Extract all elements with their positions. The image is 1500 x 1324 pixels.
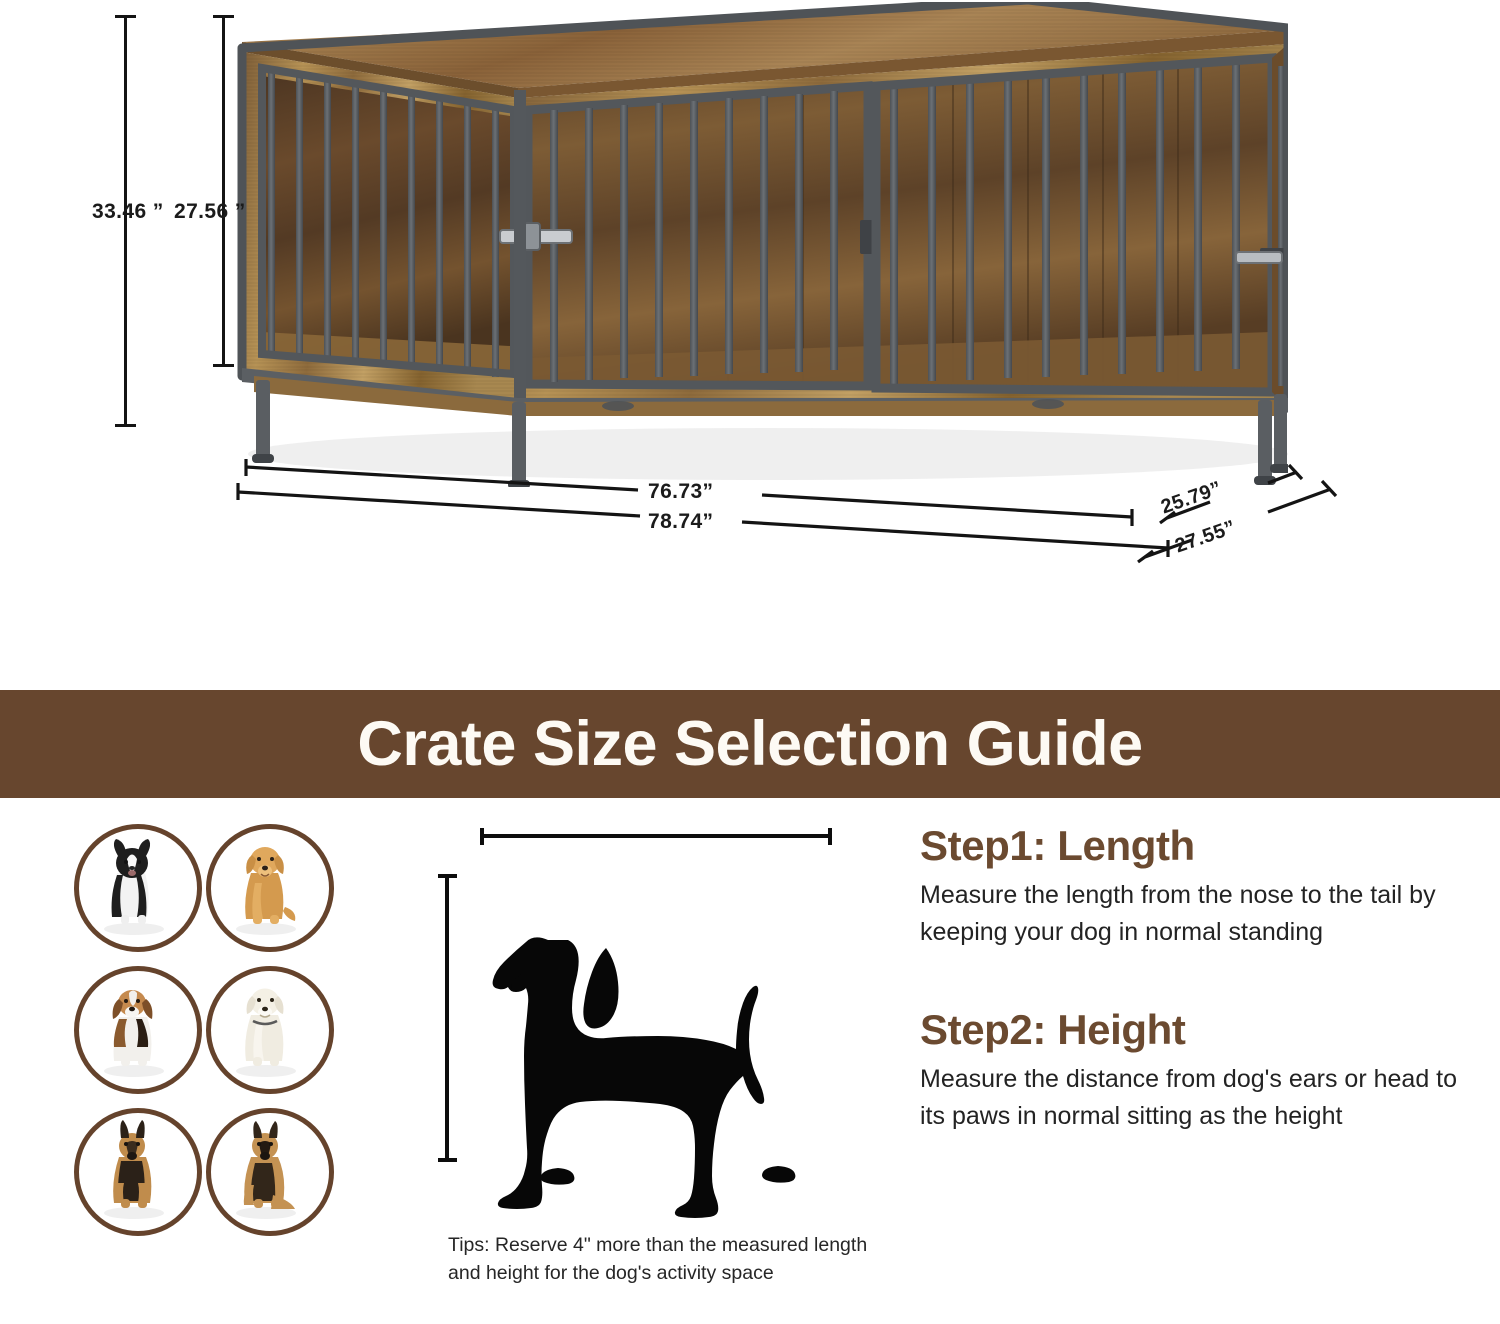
crate-size-guide-body: Tips: Reserve 4" more than the measured … bbox=[0, 798, 1500, 1324]
right-door-handle bbox=[1236, 252, 1282, 263]
product-dimension-section: 33.46 ” 27.56 ” 76.73” 78.74” bbox=[0, 0, 1500, 690]
inner-height-dimension-line bbox=[222, 15, 225, 367]
tips-text: Tips: Reserve 4" more than the measured … bbox=[448, 1232, 868, 1287]
breed-circle-golden-retriever bbox=[206, 824, 334, 952]
section-banner: Crate Size Selection Guide bbox=[0, 690, 1500, 798]
step-2-title: Step2: Height bbox=[920, 1006, 1460, 1053]
inner-width-label: 76.73” bbox=[648, 480, 713, 504]
step-2-body: Measure the distance from dog's ears or … bbox=[920, 1061, 1460, 1134]
overall-height-label: 33.46 ” bbox=[92, 200, 164, 224]
banner-title: Crate Size Selection Guide bbox=[357, 713, 1142, 776]
measure-diagram: Tips: Reserve 4" more than the measured … bbox=[430, 798, 900, 1324]
step-1-title: Step1: Length bbox=[920, 822, 1460, 869]
dog-silhouette bbox=[493, 937, 796, 1218]
breed-circle-beagle bbox=[74, 966, 202, 1094]
breed-circle-border-collie bbox=[74, 824, 202, 952]
breed-circle-labrador-retriever bbox=[206, 966, 334, 1094]
overall-depth-label: 27.55” bbox=[1172, 516, 1239, 558]
step-1: Step1: Length Measure the length from th… bbox=[920, 822, 1460, 950]
breed-examples-grid bbox=[74, 824, 324, 1236]
height-dimension-line bbox=[438, 876, 457, 1160]
length-dimension-line bbox=[482, 828, 830, 845]
overall-width-label: 78.74” bbox=[648, 510, 713, 534]
inner-height-label: 27.56 ” bbox=[174, 200, 246, 224]
product-image bbox=[228, 2, 1288, 487]
breed-circle-german-shepherd-long-coat bbox=[206, 1108, 334, 1236]
steps-column: Step1: Length Measure the length from th… bbox=[920, 822, 1460, 1170]
door-hinge bbox=[860, 220, 873, 254]
step-1-body: Measure the length from the nose to the … bbox=[920, 877, 1460, 950]
step-2: Step2: Height Measure the distance from … bbox=[920, 1006, 1460, 1134]
breed-circle-german-shepherd bbox=[74, 1108, 202, 1236]
